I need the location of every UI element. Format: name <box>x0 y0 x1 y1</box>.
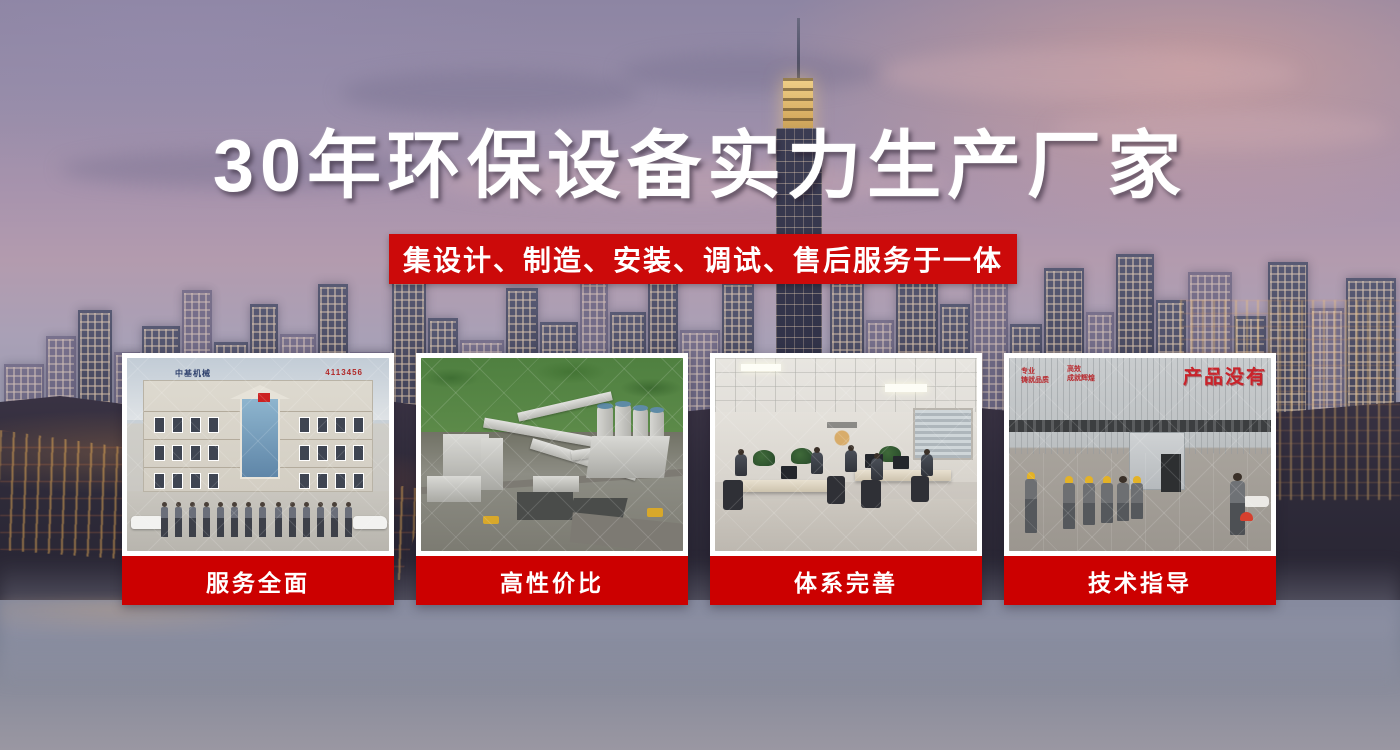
banner-stage: 30年环保设备实力生产厂家 集设计、制造、安装、调试、售后服务于一体 <box>0 0 1400 750</box>
card-thumbnail-office-interior <box>715 358 977 551</box>
feature-card-list: 中基机械 4113456 服务全面 <box>122 353 1276 605</box>
building-phone-text: 4113456 <box>325 368 363 377</box>
card-thumbnail-worker-briefing: 产品没有 专业铸就品质 高效成就辉煌 <box>1009 358 1271 551</box>
card-caption: 体系完善 <box>710 556 982 605</box>
factory-wall-headline: 产品没有 <box>1183 362 1267 389</box>
cloud <box>880 48 1300 100</box>
page-title: 30年环保设备实力生产厂家 <box>0 128 1400 205</box>
card-caption: 技术指导 <box>1004 556 1276 605</box>
card-caption: 服务全面 <box>122 556 394 605</box>
card-caption: 高性价比 <box>416 556 688 605</box>
factory-wall-slogan-2: 高效成就辉煌 <box>1067 366 1095 384</box>
feature-card[interactable]: 产品没有 专业铸就品质 高效成就辉煌 <box>1004 353 1276 605</box>
card-thumbnail-plant-aerial <box>421 358 683 551</box>
factory-wall-slogan-1: 专业铸就品质 <box>1021 368 1049 386</box>
card-thumbnail-office-building: 中基机械 4113456 <box>127 358 389 551</box>
subtitle-banner: 集设计、制造、安装、调试、售后服务于一体 <box>389 234 1017 284</box>
feature-card[interactable]: 体系完善 <box>710 353 982 605</box>
cloud <box>620 52 880 92</box>
cloud <box>340 70 640 116</box>
feature-card[interactable]: 高性价比 <box>416 353 688 605</box>
feature-card[interactable]: 中基机械 4113456 服务全面 <box>122 353 394 605</box>
subtitle-text: 集设计、制造、安装、调试、售后服务于一体 <box>403 239 1003 279</box>
building-sign-text: 中基机械 <box>175 368 211 379</box>
